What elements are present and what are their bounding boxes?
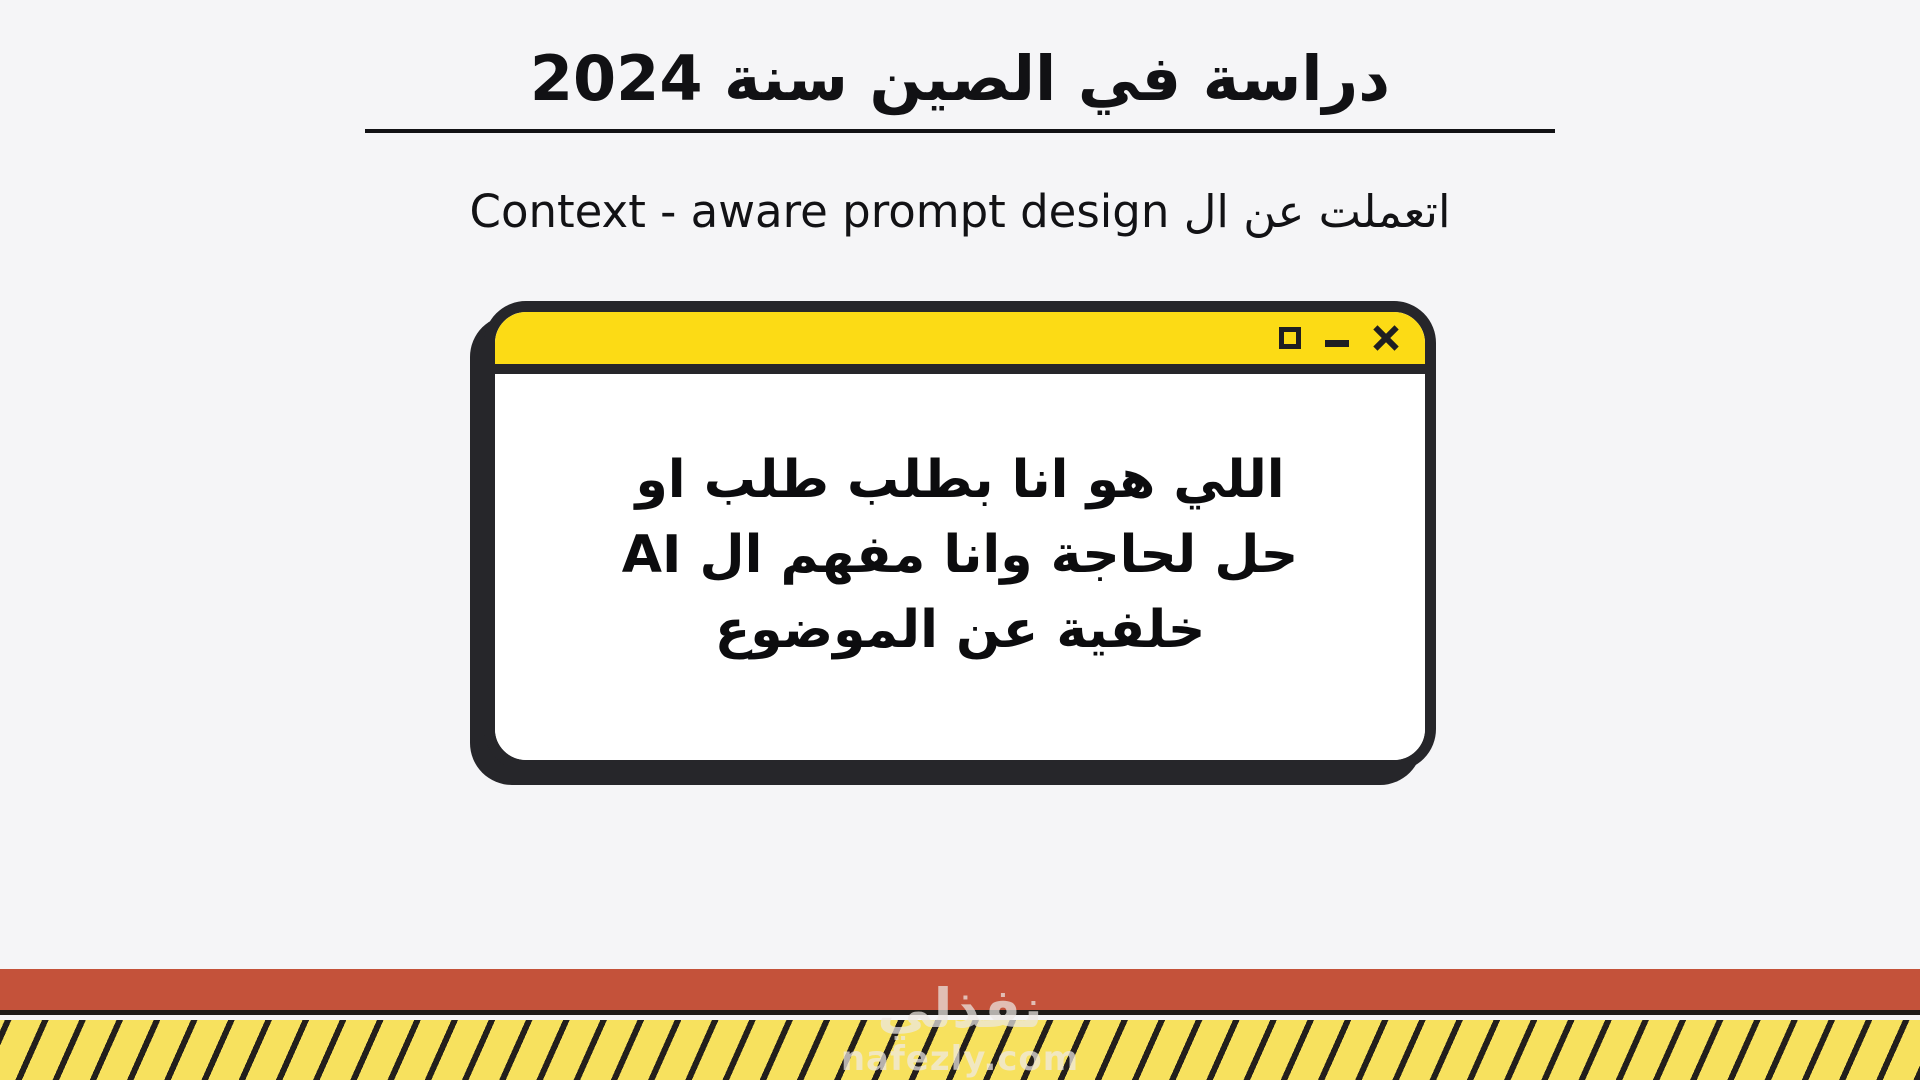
minimize-icon [1325, 340, 1349, 347]
maximize-button[interactable] [1279, 327, 1301, 349]
page-title: دراسة في الصين سنة 2024 [360, 42, 1560, 115]
maximize-icon [1279, 327, 1301, 349]
footer-striped-band [0, 1020, 1920, 1080]
footer-decoration [0, 969, 1920, 1080]
close-button[interactable] [1373, 325, 1399, 351]
window-text-line-1: اللي هو انا بطلب طلب او [635, 443, 1284, 518]
title-divider [365, 129, 1555, 133]
window-body: اللي هو انا بطلب طلب او حل لحاجة وانا مف… [495, 374, 1425, 760]
page-subtitle: اتعملت عن ال Context - aware prompt desi… [360, 185, 1560, 239]
footer-red-band [0, 969, 1920, 1015]
close-icon [1373, 325, 1399, 351]
window-titlebar[interactable] [495, 312, 1425, 374]
window-controls [1279, 325, 1399, 351]
slide-root: دراسة في الصين سنة 2024 اتعملت عن ال Con… [0, 0, 1920, 1080]
window-text-line-2: حل لحاجة وانا مفهم ال AI [622, 518, 1298, 593]
window-text-line-3: خلفية عن الموضوع [715, 593, 1206, 668]
minimize-button[interactable] [1325, 330, 1349, 347]
window-widget: اللي هو انا بطلب طلب او حل لحاجة وانا مف… [484, 301, 1436, 771]
window-frame: اللي هو انا بطلب طلب او حل لحاجة وانا مف… [484, 301, 1436, 771]
header-block: دراسة في الصين سنة 2024 اتعملت عن ال Con… [360, 42, 1560, 239]
